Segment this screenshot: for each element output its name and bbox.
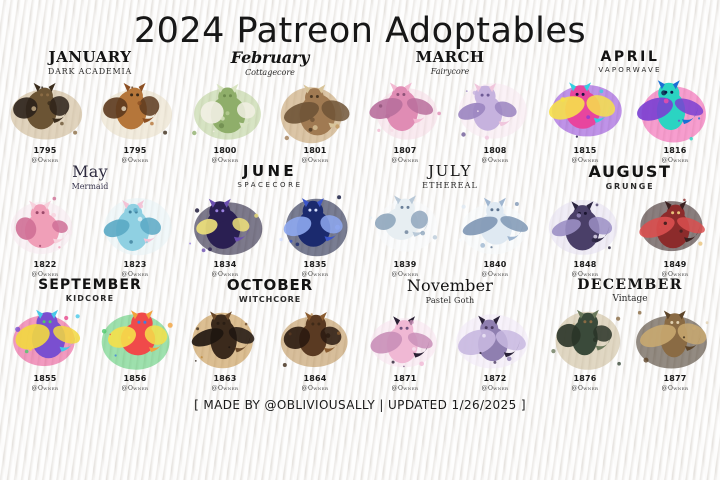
month-header-july: JULYETHEREAL xyxy=(360,164,540,191)
adoptable-id: 1849 xyxy=(630,260,720,269)
adoptable-id: 1839 xyxy=(360,260,450,269)
adoptable-owner: @Owner xyxy=(540,385,630,392)
month-theme: SPACECORE xyxy=(180,182,360,189)
month-theme: DARK ACADEMIA xyxy=(0,68,180,76)
adoptable-card[interactable]: 1876@Owner xyxy=(540,305,630,392)
adoptable-id: 1872 xyxy=(450,374,540,383)
adoptable-artwork-1877 xyxy=(633,305,717,373)
adoptable-artwork-1795 xyxy=(3,77,87,145)
adoptable-id: 1877 xyxy=(630,374,720,383)
month-row: SEPTEMBERKIDCOREOCTOBERWITCHCORENovember… xyxy=(0,278,720,392)
month-name: DECEMBER xyxy=(540,278,720,292)
month-name: SEPTEMBER xyxy=(0,278,180,292)
month-header-december: DECEMBERVintage xyxy=(540,278,720,305)
month-header-strip: JANUARYDARK ACADEMIAFebruaryCottagecoreM… xyxy=(0,50,720,77)
month-theme: Mermaid xyxy=(0,183,180,191)
adoptable-card[interactable]: 1839@Owner xyxy=(360,191,450,278)
adoptable-card[interactable]: 1856@Owner xyxy=(90,305,180,392)
month-header-may: MayMermaid xyxy=(0,164,180,191)
adoptable-artwork-1808 xyxy=(453,77,537,145)
adoptable-id: 1855 xyxy=(0,374,90,383)
adoptable-artwork-1801 xyxy=(273,77,357,145)
adoptable-id: 1864 xyxy=(270,374,360,383)
adoptable-owner: @Owner xyxy=(0,385,90,392)
month-name: February xyxy=(180,50,360,66)
month-row: MayMermaidJUNESPACECOREJULYETHEREALAUGUS… xyxy=(0,164,720,278)
month-header-september: SEPTEMBERKIDCORE xyxy=(0,278,180,305)
month-name: APRIL xyxy=(540,50,720,64)
month-theme: Pastel Goth xyxy=(360,297,540,305)
adoptable-artwork-1800 xyxy=(183,77,267,145)
adoptable-card[interactable]: 1835@Owner xyxy=(270,191,360,278)
adoptable-artwork-1816 xyxy=(633,77,717,145)
month-name: JANUARY xyxy=(0,50,180,65)
adoptable-owner: @Owner xyxy=(630,385,720,392)
month-header-november: NovemberPastel Goth xyxy=(360,278,540,305)
adoptable-artwork-1815 xyxy=(543,77,627,145)
adoptable-card[interactable]: 1800@Owner xyxy=(180,77,270,164)
adoptable-card[interactable]: 1834@Owner xyxy=(180,191,270,278)
adoptable-artwork-1855 xyxy=(3,305,87,373)
month-theme: VAPORWAVE xyxy=(540,67,720,74)
adoptable-card[interactable]: 1807@Owner xyxy=(360,77,450,164)
month-header-january: JANUARYDARK ACADEMIA xyxy=(0,50,180,77)
adoptable-id: 1856 xyxy=(90,374,180,383)
adoptable-artwork-1807 xyxy=(363,77,447,145)
adoptable-id: 1808 xyxy=(450,146,540,155)
page-title: 2024 Patreon Adoptables xyxy=(0,0,720,50)
adoptable-card[interactable]: 1848@Owner xyxy=(540,191,630,278)
adoptable-card[interactable]: 1855@Owner xyxy=(0,305,90,392)
month-header-march: MARCHFairycore xyxy=(360,50,540,77)
adoptable-artwork-1872 xyxy=(453,305,537,373)
month-theme: Vintage xyxy=(540,295,720,304)
adoptable-card[interactable]: 1815@Owner xyxy=(540,77,630,164)
adoptable-id: 1816 xyxy=(630,146,720,155)
adoptable-card[interactable]: 1822@Owner xyxy=(0,191,90,278)
adoptable-card[interactable]: 1795@Owner xyxy=(0,77,90,164)
month-theme: Fairycore xyxy=(360,68,540,76)
adoptable-artwork-1795 xyxy=(93,77,177,145)
adoptable-id: 1795 xyxy=(90,146,180,155)
adoptable-owner: @Owner xyxy=(270,385,360,392)
month-header-february: FebruaryCottagecore xyxy=(180,50,360,77)
month-row: JANUARYDARK ACADEMIAFebruaryCottagecoreM… xyxy=(0,50,720,164)
adoptable-card[interactable]: 1795@Owner xyxy=(90,77,180,164)
adoptable-artwork-1876 xyxy=(543,305,627,373)
adoptable-owner: @Owner xyxy=(360,385,450,392)
adoptable-artwork-1840 xyxy=(453,191,537,259)
footer-credit: [ MADE BY @OBLIVIOUSALLY | UPDATED 1/26/… xyxy=(0,398,720,412)
adoptable-artwork-1839 xyxy=(363,191,447,259)
adoptable-card-strip: 1795@Owner1795@Owner1800@Owner1801@Owner… xyxy=(0,77,720,164)
adoptable-card-strip: 1855@Owner1856@Owner1863@Owner1864@Owner… xyxy=(0,305,720,392)
adoptable-card[interactable]: 1840@Owner xyxy=(450,191,540,278)
month-header-strip: SEPTEMBERKIDCOREOCTOBERWITCHCORENovember… xyxy=(0,278,720,305)
month-name: MARCH xyxy=(360,50,540,65)
adoptable-id: 1823 xyxy=(90,260,180,269)
adoptable-card[interactable]: 1872@Owner xyxy=(450,305,540,392)
adoptable-artwork-1856 xyxy=(93,305,177,373)
adoptable-id: 1835 xyxy=(270,260,360,269)
adoptable-card[interactable]: 1871@Owner xyxy=(360,305,450,392)
adoptable-id: 1876 xyxy=(540,374,630,383)
months-grid: JANUARYDARK ACADEMIAFebruaryCottagecoreM… xyxy=(0,50,720,392)
adoptable-id: 1795 xyxy=(0,146,90,155)
adoptable-artwork-1835 xyxy=(273,191,357,259)
adoptable-owner: @Owner xyxy=(180,385,270,392)
adoptable-artwork-1848 xyxy=(543,191,627,259)
month-header-august: AUGUSTGRUNGE xyxy=(540,164,720,191)
month-theme: Cottagecore xyxy=(180,69,360,77)
month-theme: KIDCORE xyxy=(0,295,180,303)
month-header-strip: MayMermaidJUNESPACECOREJULYETHEREALAUGUS… xyxy=(0,164,720,191)
adoptable-id: 1807 xyxy=(360,146,450,155)
month-theme: WITCHCORE xyxy=(180,296,360,304)
adoptable-card[interactable]: 1877@Owner xyxy=(630,305,720,392)
adoptable-owner: @Owner xyxy=(90,385,180,392)
month-name: November xyxy=(360,278,540,294)
adoptable-artwork-1864 xyxy=(273,305,357,373)
adoptable-id: 1840 xyxy=(450,260,540,269)
adoptable-artwork-1849 xyxy=(633,191,717,259)
month-name: OCTOBER xyxy=(180,278,360,293)
adoptable-card-strip: 1822@Owner1823@Owner1834@Owner1835@Owner… xyxy=(0,191,720,278)
adoptable-card[interactable]: 1823@Owner xyxy=(90,191,180,278)
adoptable-id: 1801 xyxy=(270,146,360,155)
adoptable-card[interactable]: 1864@Owner xyxy=(270,305,360,392)
month-theme: GRUNGE xyxy=(540,183,720,191)
adoptable-artwork-1863 xyxy=(183,305,267,373)
month-header-october: OCTOBERWITCHCORE xyxy=(180,278,360,305)
adoptable-id: 1822 xyxy=(0,260,90,269)
month-name: JULY xyxy=(360,164,540,179)
month-header-june: JUNESPACECORE xyxy=(180,164,360,191)
month-header-april: APRILVAPORWAVE xyxy=(540,50,720,77)
month-name: May xyxy=(0,164,180,180)
adoptable-card[interactable]: 1863@Owner xyxy=(180,305,270,392)
adoptable-card[interactable]: 1849@Owner xyxy=(630,191,720,278)
poster: 2024 Patreon Adoptables JANUARYDARK ACAD… xyxy=(0,0,720,480)
adoptable-id: 1800 xyxy=(180,146,270,155)
adoptable-card[interactable]: 1801@Owner xyxy=(270,77,360,164)
month-theme: ETHEREAL xyxy=(360,182,540,190)
month-name: JUNE xyxy=(180,164,360,179)
adoptable-owner: @Owner xyxy=(450,385,540,392)
adoptable-artwork-1871 xyxy=(363,305,447,373)
month-name: AUGUST xyxy=(540,164,720,180)
adoptable-id: 1834 xyxy=(180,260,270,269)
adoptable-card[interactable]: 1808@Owner xyxy=(450,77,540,164)
adoptable-id: 1815 xyxy=(540,146,630,155)
adoptable-id: 1863 xyxy=(180,374,270,383)
adoptable-artwork-1834 xyxy=(183,191,267,259)
adoptable-card[interactable]: 1816@Owner xyxy=(630,77,720,164)
adoptable-id: 1871 xyxy=(360,374,450,383)
adoptable-artwork-1822 xyxy=(3,191,87,259)
adoptable-artwork-1823 xyxy=(93,191,177,259)
adoptable-id: 1848 xyxy=(540,260,630,269)
